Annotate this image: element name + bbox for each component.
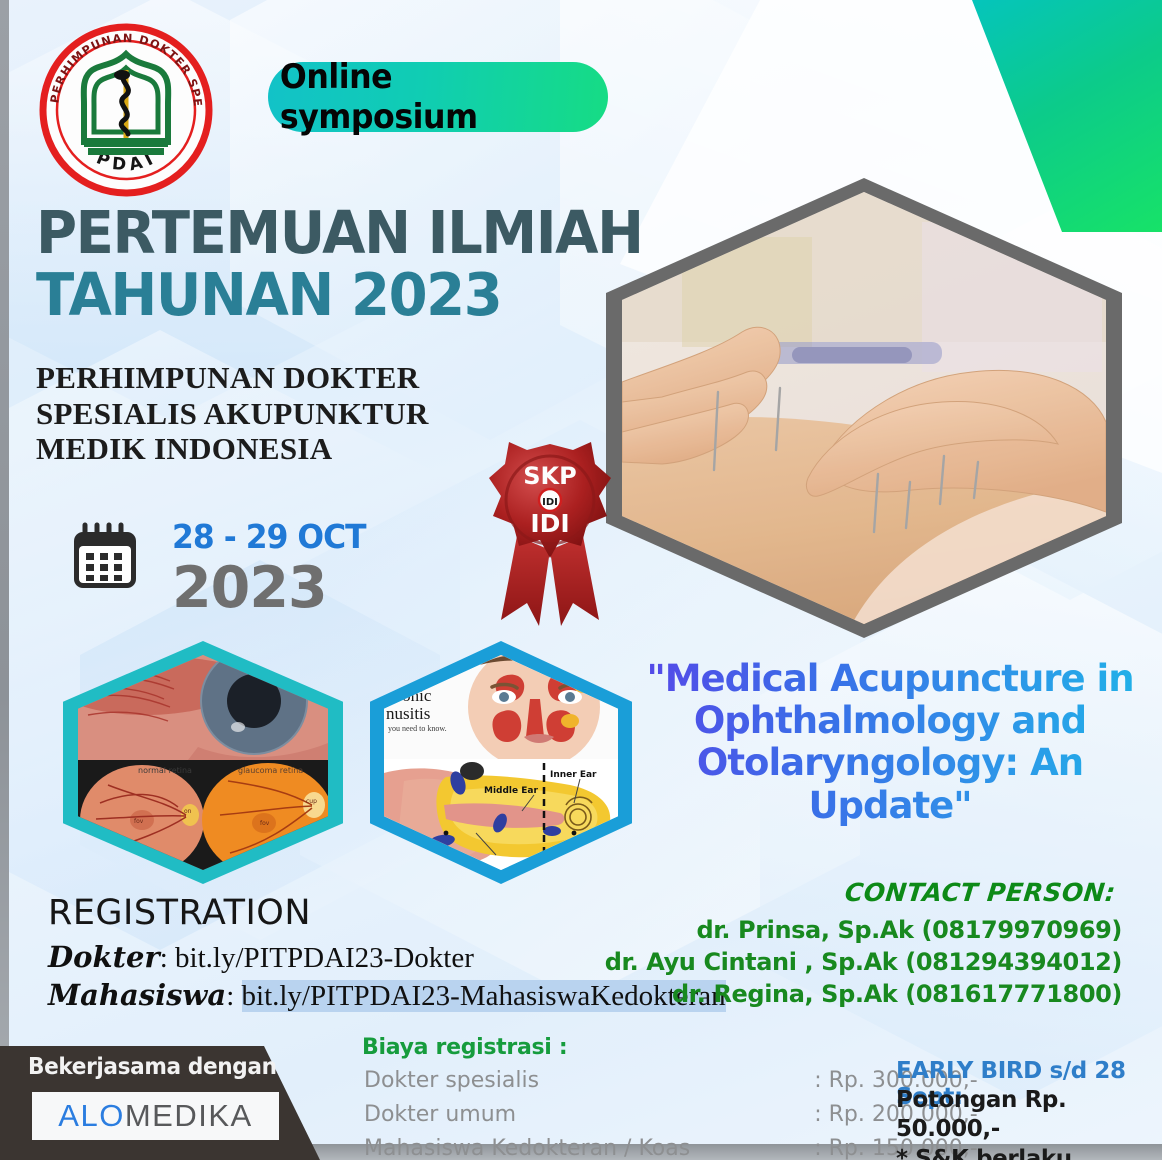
org-line-3: MEDIK INDONESIA bbox=[36, 431, 429, 467]
theme-line-3: Otolaryngology: An Update" bbox=[640, 742, 1140, 826]
svg-text:Middle Ear: Middle Ear bbox=[484, 786, 538, 796]
headline-line-1: PERTEMUAN ILMIAH bbox=[36, 205, 643, 262]
org-line-2: SPESIALIS AKUPUNKTUR bbox=[36, 396, 429, 432]
fee-label-2: Dokter umum bbox=[364, 1099, 690, 1131]
badge-label: Online symposium bbox=[280, 57, 596, 137]
contact-person-1: dr. Prinsa, Sp.Ak (08179970969) bbox=[605, 914, 1122, 946]
calendar-icon bbox=[70, 520, 140, 592]
contact-person-title: CONTACT PERSON: bbox=[844, 878, 1118, 907]
headline-block: PERTEMUAN ILMIAH TAHUNAN 2023 bbox=[36, 205, 675, 323]
svg-text:on: on bbox=[184, 808, 192, 815]
headline-line-2: TAHUNAN 2023 bbox=[36, 267, 643, 324]
svg-text:fov: fov bbox=[260, 820, 270, 827]
theme-line-1: "Medical Acupuncture in bbox=[640, 658, 1140, 700]
online-symposium-badge: Online symposium bbox=[268, 62, 608, 132]
pdai-logo: PERHIMPUNAN DOKTER SPESIALIS AKUPUNKTUR … bbox=[36, 20, 216, 200]
symposium-theme: "Medical Acupuncture in Ophthalmology an… bbox=[640, 658, 1140, 827]
contact-person-list: dr. Prinsa, Sp.Ak (08179970969) dr. Ayu … bbox=[605, 914, 1122, 1010]
alomedika-logo-part1: ALO bbox=[58, 1098, 125, 1134]
table-row: Dokter umum : Rp. 200.000,- bbox=[364, 1099, 978, 1131]
alomedika-logo-part2: MEDIKA bbox=[125, 1098, 253, 1134]
registration-link-dokter[interactable]: bit.ly/PITPDAI23-Dokter bbox=[175, 942, 474, 974]
left-edge-strip bbox=[0, 0, 9, 1160]
svg-text:IDI: IDI bbox=[530, 509, 569, 538]
skp-idi-seal: SKP IDI IDI bbox=[487, 440, 613, 630]
partner-label: Bekerjasama dengan bbox=[28, 1054, 277, 1080]
fees-title: Biaya registrasi : bbox=[362, 1035, 567, 1060]
svg-text:Inner Ear: Inner Ear bbox=[550, 770, 597, 780]
early-bird-details: Potongan Rp. 50.000,- * S&K berlaku bbox=[896, 1086, 1162, 1160]
svg-text:SKP: SKP bbox=[523, 462, 576, 490]
fee-label-1: Dokter spesialis bbox=[364, 1065, 690, 1097]
event-year: 2023 bbox=[172, 555, 327, 621]
svg-text:hronic: hronic bbox=[388, 686, 432, 705]
registration-title: REGISTRATION bbox=[48, 893, 311, 933]
early-bird-line-2: * S&K berlaku bbox=[896, 1145, 1162, 1160]
early-bird-line-1: Potongan Rp. 50.000,- bbox=[896, 1086, 1162, 1145]
table-row: Dokter spesialis : Rp. 300.000,- bbox=[364, 1065, 978, 1097]
hexagon-frame-eye: normal retina glaucoma retina fov fov on… bbox=[63, 641, 343, 884]
theme-line-2: Ophthalmology and bbox=[640, 700, 1140, 742]
svg-text:nusitis: nusitis bbox=[386, 704, 430, 723]
sinusitis-ear-photo: hronic nusitis you need to know. bbox=[384, 655, 618, 870]
table-row: Mahasiswa Kedokteran / Koas : Rp. 150.00… bbox=[364, 1133, 978, 1160]
svg-text:you need to know.: you need to know. bbox=[388, 724, 447, 733]
alomedika-logo: ALOMEDIKA bbox=[32, 1092, 279, 1140]
bg-polygon-6 bbox=[760, 560, 1162, 1100]
event-date-range: 28 - 29 OCT bbox=[172, 517, 366, 556]
fees-table: Dokter spesialis : Rp. 300.000,- Dokter … bbox=[362, 1063, 980, 1160]
contact-person-3: dr. Regina, Sp.Ak (081617771800) bbox=[605, 978, 1122, 1010]
registration-sep-dokter: : bbox=[160, 942, 175, 974]
svg-text:glaucoma retina: glaucoma retina bbox=[238, 766, 303, 775]
hexagon-frame-ent: hronic nusitis you need to know. bbox=[370, 641, 632, 884]
organization-name: PERHIMPUNAN DOKTER SPESIALIS AKUPUNKTUR … bbox=[36, 360, 429, 467]
svg-text:fov: fov bbox=[134, 818, 144, 825]
svg-text:normal retina: normal retina bbox=[138, 766, 192, 775]
svg-text:IDI: IDI bbox=[542, 497, 558, 508]
fee-label-3: Mahasiswa Kedokteran / Koas bbox=[364, 1133, 690, 1160]
registration-row-dokter: Dokter: bit.ly/PITPDAI23-Dokter bbox=[48, 940, 474, 975]
contact-person-2: dr. Ayu Cintani , Sp.Ak (081294394012) bbox=[605, 946, 1122, 978]
registration-label-mahasiswa: Mahasiswa bbox=[48, 978, 226, 1012]
registration-sep-mahasiswa: : bbox=[226, 980, 241, 1012]
svg-text:cup: cup bbox=[306, 798, 317, 805]
poster-canvas: PERHIMPUNAN DOKTER SPESIALIS AKUPUNKTUR … bbox=[0, 0, 1162, 1160]
eye-retina-photo: normal retina glaucoma retina fov fov on… bbox=[78, 655, 328, 870]
org-line-1: PERHIMPUNAN DOKTER bbox=[36, 360, 429, 396]
registration-label-dokter: Dokter bbox=[48, 940, 160, 974]
